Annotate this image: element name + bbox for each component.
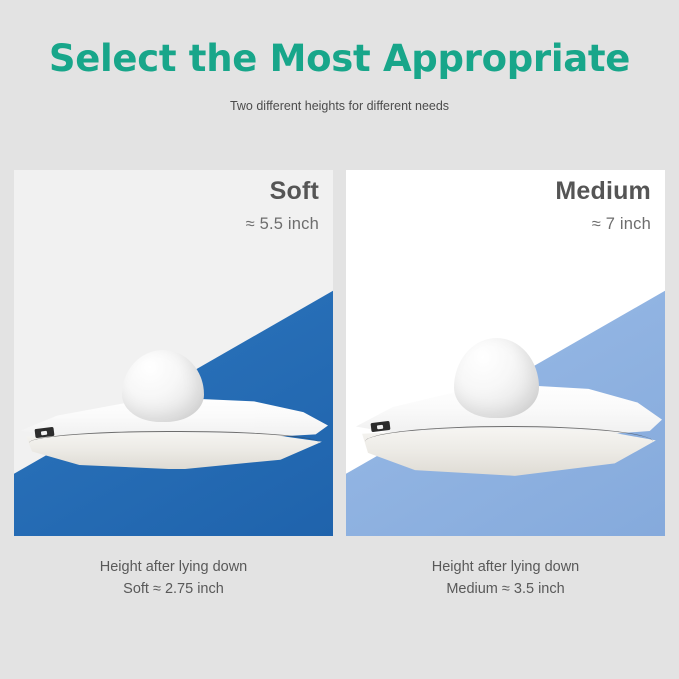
product-panel-soft[interactable]: Soft ≈ 5.5 inch	[14, 170, 333, 536]
panel-labels-medium: Medium ≈ 7 inch	[555, 176, 651, 234]
panel-title-medium: Medium	[555, 176, 651, 206]
pillow-illustration-soft	[20, 338, 328, 468]
panel-captions: Height after lying down Soft ≈ 2.75 inch…	[14, 556, 665, 601]
panel-title-soft: Soft	[246, 176, 319, 206]
product-panel-medium[interactable]: Medium ≈ 7 inch	[346, 170, 665, 536]
page-subtitle: Two different heights for different need…	[0, 81, 679, 113]
page-title: Select the Most Appropriate	[0, 38, 679, 81]
pillow-brand-tag-icon	[35, 427, 55, 438]
panel-labels-soft: Soft ≈ 5.5 inch	[246, 176, 319, 234]
head-dome-model	[122, 350, 204, 422]
panel-height-medium: ≈ 7 inch	[555, 206, 651, 234]
panel-height-soft: ≈ 5.5 inch	[246, 206, 319, 234]
caption-soft-line2: Soft ≈ 2.75 inch	[14, 578, 333, 600]
page-header: Select the Most Appropriate Two differen…	[0, 0, 679, 113]
head-dome-model	[454, 338, 539, 418]
caption-soft: Height after lying down Soft ≈ 2.75 inch	[14, 556, 333, 601]
caption-medium-line1: Height after lying down	[346, 556, 665, 578]
pillow-illustration-medium	[356, 324, 662, 474]
caption-medium: Height after lying down Medium ≈ 3.5 inc…	[346, 556, 665, 601]
comparison-panels: Soft ≈ 5.5 inch Medium ≈ 7 inch	[14, 170, 665, 536]
caption-medium-line2: Medium ≈ 3.5 inch	[346, 578, 665, 600]
caption-soft-line1: Height after lying down	[14, 556, 333, 578]
